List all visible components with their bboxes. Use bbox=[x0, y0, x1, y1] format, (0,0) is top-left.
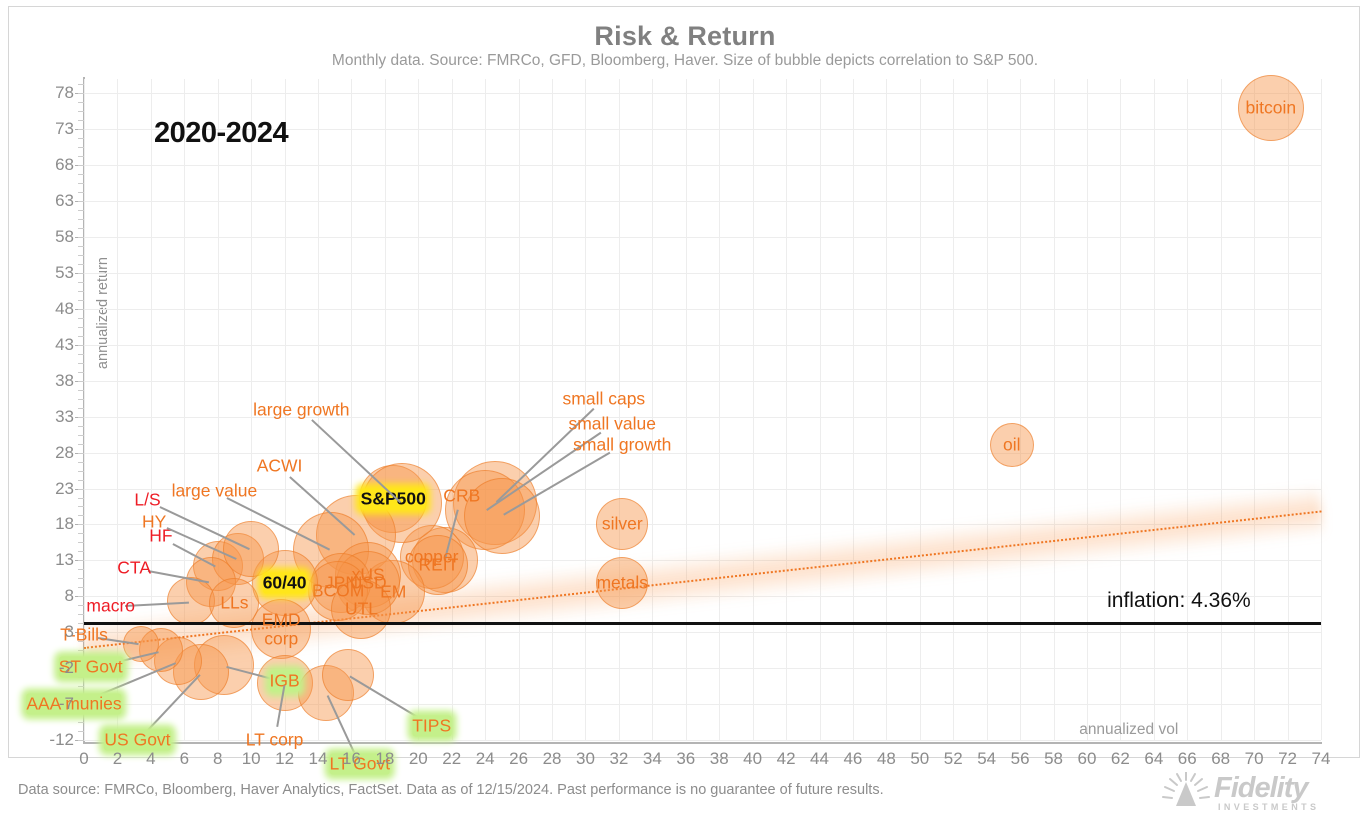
gridline-vertical bbox=[552, 79, 553, 740]
chart-frame: Risk & Return Monthly data. Source: FMRC… bbox=[8, 6, 1360, 758]
y-axis-tick-label: 8 bbox=[14, 586, 74, 606]
gridline-vertical bbox=[1254, 79, 1255, 740]
bubble-label-macro: macro bbox=[86, 595, 135, 616]
y-axis-minor-tick bbox=[78, 102, 84, 103]
x-axis-tick-label: 66 bbox=[1178, 749, 1197, 769]
y-axis-minor-tick bbox=[78, 408, 84, 409]
gridline-vertical bbox=[786, 79, 787, 740]
bubble-label-tips: TIPS bbox=[412, 715, 451, 736]
x-axis-tick-label: 24 bbox=[476, 749, 495, 769]
y-axis-minor-tick bbox=[78, 417, 84, 418]
bubble-label-bitcoin: bitcoin bbox=[1246, 97, 1297, 118]
chart-page: Risk & Return Monthly data. Source: FMRC… bbox=[0, 0, 1372, 817]
gridline-vertical bbox=[652, 79, 653, 740]
x-axis-tick-label: 26 bbox=[509, 749, 528, 769]
y-axis-tick-label: 3 bbox=[14, 622, 74, 642]
y-axis-tick-label: 28 bbox=[14, 443, 74, 463]
y-axis-minor-tick bbox=[78, 489, 84, 490]
y-axis-minor-tick bbox=[78, 93, 84, 94]
y-axis-minor-tick bbox=[78, 614, 84, 615]
y-axis-minor-tick bbox=[78, 498, 84, 499]
gridline-horizontal bbox=[84, 489, 1321, 490]
y-axis-minor-tick bbox=[78, 596, 84, 597]
gridline-vertical bbox=[619, 79, 620, 740]
page-title: Risk & Return bbox=[9, 21, 1361, 52]
y-axis-minor-tick bbox=[78, 129, 84, 130]
x-axis-tick-label: 0 bbox=[79, 749, 88, 769]
y-axis-tick-label: -2 bbox=[14, 658, 74, 678]
x-axis-tick-label: 62 bbox=[1111, 749, 1130, 769]
x-axis-tick-label: 30 bbox=[576, 749, 595, 769]
y-axis-minor-tick bbox=[78, 435, 84, 436]
plot-area: bitcoinoilsilvermetalssmall capssmall va… bbox=[84, 79, 1321, 740]
y-axis-minor-tick bbox=[78, 147, 84, 148]
gridline-vertical bbox=[1288, 79, 1289, 740]
bubble-label-large-value: large value bbox=[172, 480, 258, 501]
y-axis-minor-tick bbox=[78, 246, 84, 247]
y-axis-minor-tick bbox=[78, 354, 84, 355]
gridline-horizontal bbox=[84, 165, 1321, 166]
x-axis-tick-label: 14 bbox=[309, 749, 328, 769]
x-axis-tick-label: 4 bbox=[146, 749, 155, 769]
x-axis-tick-label: 22 bbox=[442, 749, 461, 769]
gridline-vertical bbox=[686, 79, 687, 740]
y-axis-tick-label: 43 bbox=[14, 335, 74, 355]
x-axis-tick-label: 48 bbox=[877, 749, 896, 769]
y-axis-minor-tick bbox=[78, 264, 84, 265]
y-axis-minor-tick bbox=[78, 201, 84, 202]
x-axis-tick-label: 74 bbox=[1312, 749, 1331, 769]
x-axis-tick-label: 8 bbox=[213, 749, 222, 769]
x-axis-tick-label: 52 bbox=[944, 749, 963, 769]
y-axis-minor-tick bbox=[78, 399, 84, 400]
y-axis-minor-tick bbox=[78, 740, 84, 741]
gridline-vertical bbox=[485, 79, 486, 740]
bubble-label-l-s: L/S bbox=[134, 490, 160, 511]
x-axis-tick-label: 70 bbox=[1245, 749, 1264, 769]
chart-subtitle: Monthly data. Source: FMRCo, GFD, Bloomb… bbox=[9, 52, 1361, 70]
bubble-label-s-p500: S&P500 bbox=[361, 489, 426, 510]
gridline-vertical bbox=[820, 79, 821, 740]
bubble-label-us-govt: US Govt bbox=[104, 730, 170, 751]
bubble-label-silver: silver bbox=[602, 514, 643, 535]
gridline-vertical bbox=[519, 79, 520, 740]
y-axis-minor-tick bbox=[78, 578, 84, 579]
bubble-label-lls: LLs bbox=[220, 593, 248, 614]
y-axis-minor-tick bbox=[78, 731, 84, 732]
x-axis-tick-label: 10 bbox=[242, 749, 261, 769]
bubble-label-metals: metals bbox=[596, 573, 648, 594]
gridline-vertical bbox=[1221, 79, 1222, 740]
x-axis-tick-label: 18 bbox=[375, 749, 394, 769]
y-axis-minor-tick bbox=[78, 381, 84, 382]
x-axis-tick-label: 38 bbox=[710, 749, 729, 769]
x-axis-tick-label: 68 bbox=[1211, 749, 1230, 769]
y-axis-minor-tick bbox=[78, 506, 84, 507]
bubble-label-60-40: 60/40 bbox=[263, 573, 307, 594]
bubble-tips[interactable] bbox=[322, 649, 374, 701]
y-axis-minor-tick bbox=[78, 650, 84, 651]
y-axis-minor-tick bbox=[78, 255, 84, 256]
x-axis-tick-label: 54 bbox=[977, 749, 996, 769]
inflation-annotation: inflation: 4.36% bbox=[1107, 589, 1251, 613]
bubble-label-igb: IGB bbox=[270, 671, 300, 692]
bubble-label-cta: CTA bbox=[117, 557, 151, 578]
bubble-label-acwi: ACWI bbox=[257, 456, 303, 477]
bubble-label-lt-corp: LT corp bbox=[246, 730, 304, 751]
x-axis-title: annualized vol bbox=[1079, 721, 1178, 739]
y-axis-minor-tick bbox=[78, 210, 84, 211]
bubble-label-oil: oil bbox=[1003, 435, 1021, 456]
gridline-vertical bbox=[1087, 79, 1088, 740]
x-axis-tick-label: 36 bbox=[676, 749, 695, 769]
x-axis-tick-label: 60 bbox=[1078, 749, 1097, 769]
y-axis-minor-tick bbox=[78, 183, 84, 184]
y-axis-tick-label: 13 bbox=[14, 550, 74, 570]
y-axis-tick-label: 53 bbox=[14, 263, 74, 283]
y-axis-tick-label: 38 bbox=[14, 371, 74, 391]
y-axis-minor-tick bbox=[78, 237, 84, 238]
x-axis-tick-label: 72 bbox=[1278, 749, 1297, 769]
y-axis-minor-tick bbox=[78, 120, 84, 121]
gridline-vertical bbox=[1154, 79, 1155, 740]
y-axis-minor-tick bbox=[78, 524, 84, 525]
y-axis-minor-tick bbox=[78, 84, 84, 85]
y-axis-minor-tick bbox=[78, 462, 84, 463]
x-axis-tick-label: 28 bbox=[543, 749, 562, 769]
gridline-vertical bbox=[853, 79, 854, 740]
x-axis-tick-label: 44 bbox=[810, 749, 829, 769]
gridline-vertical bbox=[452, 79, 453, 740]
y-axis-tick-label: 23 bbox=[14, 479, 74, 499]
logo-tagline: INVESTMENTS bbox=[1218, 802, 1319, 812]
y-axis-minor-tick bbox=[78, 551, 84, 552]
y-axis-minor-tick bbox=[78, 515, 84, 516]
y-axis-minor-tick bbox=[78, 219, 84, 220]
y-axis-minor-tick bbox=[78, 444, 84, 445]
x-axis-tick-label: 6 bbox=[180, 749, 189, 769]
y-axis-minor-tick bbox=[78, 327, 84, 328]
bubble-label-small-growth: small growth bbox=[573, 435, 671, 456]
leader-line bbox=[311, 419, 401, 503]
y-axis-minor-tick bbox=[78, 677, 84, 678]
x-axis-tick-label: 12 bbox=[275, 749, 294, 769]
bubble-label-hy: HY bbox=[142, 511, 166, 532]
y-axis-minor-tick bbox=[78, 192, 84, 193]
y-axis-minor-tick bbox=[78, 560, 84, 561]
y-axis-minor-tick bbox=[78, 111, 84, 112]
gridline-vertical bbox=[418, 79, 419, 740]
y-axis-minor-tick bbox=[78, 138, 84, 139]
bubble-label-reit: REIT bbox=[418, 554, 458, 575]
y-axis-tick-label: -12 bbox=[14, 730, 74, 750]
gridline-horizontal bbox=[84, 201, 1321, 202]
y-axis-tick-label: 48 bbox=[14, 299, 74, 319]
y-axis-minor-tick bbox=[78, 605, 84, 606]
x-axis-tick-label: 56 bbox=[1011, 749, 1030, 769]
x-axis-tick-label: 46 bbox=[843, 749, 862, 769]
gridline-vertical bbox=[585, 79, 586, 740]
y-axis-minor-tick bbox=[78, 273, 84, 274]
y-axis-minor-tick bbox=[78, 156, 84, 157]
gridline-horizontal bbox=[84, 237, 1321, 238]
y-axis-minor-tick bbox=[78, 533, 84, 534]
gridline-horizontal bbox=[84, 93, 1321, 94]
gridline-vertical bbox=[753, 79, 754, 740]
y-axis-tick-label: 63 bbox=[14, 191, 74, 211]
y-axis-minor-tick bbox=[78, 291, 84, 292]
gridline-vertical bbox=[1321, 79, 1322, 740]
fidelity-logo: Fidelity INVESTMENTS bbox=[1162, 772, 1362, 814]
y-axis-tick-label: 68 bbox=[14, 155, 74, 175]
y-axis-minor-tick bbox=[78, 480, 84, 481]
y-axis-minor-tick bbox=[78, 686, 84, 687]
logo-wordmark: Fidelity bbox=[1214, 772, 1308, 805]
y-axis-minor-tick bbox=[78, 309, 84, 310]
y-axis-minor-tick bbox=[78, 372, 84, 373]
gridline-horizontal bbox=[84, 381, 1321, 382]
gridline-horizontal bbox=[84, 273, 1321, 274]
y-axis-minor-tick bbox=[78, 363, 84, 364]
period-annotation: 2020-2024 bbox=[154, 117, 288, 150]
gridline-vertical bbox=[385, 79, 386, 740]
y-axis-minor-tick bbox=[78, 318, 84, 319]
y-axis-minor-tick bbox=[78, 165, 84, 166]
y-axis-tick-label: 73 bbox=[14, 119, 74, 139]
gridline-vertical bbox=[1020, 79, 1021, 740]
bubble-label-utl: UTL bbox=[345, 599, 378, 620]
y-axis-tick-label: 33 bbox=[14, 407, 74, 427]
bubble-label-emd-corp: EMDcorp bbox=[262, 611, 301, 648]
bubble-label-crb: CRB bbox=[443, 485, 480, 506]
y-axis-minor-tick bbox=[78, 282, 84, 283]
y-axis-minor-tick bbox=[78, 542, 84, 543]
y-axis-minor-tick bbox=[78, 722, 84, 723]
y-axis-minor-tick bbox=[78, 471, 84, 472]
fidelity-pyramid-icon bbox=[1162, 772, 1210, 812]
x-axis-tick-label: 42 bbox=[777, 749, 796, 769]
y-axis-tick-label: -7 bbox=[14, 694, 74, 714]
gridline-vertical bbox=[1120, 79, 1121, 740]
x-axis-tick-label: 20 bbox=[409, 749, 428, 769]
gridline-horizontal bbox=[84, 309, 1321, 310]
gridline-vertical bbox=[1054, 79, 1055, 740]
bubble-label-small-caps: small caps bbox=[563, 388, 646, 409]
gridline-vertical bbox=[920, 79, 921, 740]
footer-source: Data source: FMRCo, Bloomberg, Haver Ana… bbox=[18, 782, 884, 798]
x-axis-tick-label: 64 bbox=[1144, 749, 1163, 769]
x-axis-tick-label: 2 bbox=[113, 749, 122, 769]
x-axis-tick-label: 50 bbox=[910, 749, 929, 769]
gridline-vertical bbox=[953, 79, 954, 740]
x-axis-tick-label: 16 bbox=[342, 749, 361, 769]
y-axis-minor-tick bbox=[78, 390, 84, 391]
y-axis-minor-tick bbox=[78, 453, 84, 454]
gridline-vertical bbox=[1187, 79, 1188, 740]
y-axis-minor-tick bbox=[78, 345, 84, 346]
y-axis-minor-tick bbox=[78, 228, 84, 229]
gridline-vertical bbox=[886, 79, 887, 740]
y-axis-minor-tick bbox=[78, 174, 84, 175]
y-axis-tick-label: 18 bbox=[14, 514, 74, 534]
bubble-label-large-growth: large growth bbox=[253, 399, 349, 420]
y-axis-minor-tick bbox=[78, 426, 84, 427]
x-axis-tick-label: 32 bbox=[609, 749, 628, 769]
gridline-horizontal bbox=[84, 453, 1321, 454]
bubble-label-small-value: small value bbox=[568, 413, 656, 434]
y-axis-minor-tick bbox=[78, 569, 84, 570]
gridline-vertical bbox=[719, 79, 720, 740]
x-axis-tick-label: 34 bbox=[643, 749, 662, 769]
gridline-horizontal bbox=[84, 345, 1321, 346]
y-axis-minor-tick bbox=[78, 300, 84, 301]
gridline-vertical bbox=[987, 79, 988, 740]
y-axis-tick-label: 78 bbox=[14, 83, 74, 103]
y-axis-tick-label: 58 bbox=[14, 227, 74, 247]
x-axis-tick-label: 58 bbox=[1044, 749, 1063, 769]
y-axis-minor-tick bbox=[78, 336, 84, 337]
y-axis-minor-tick bbox=[78, 587, 84, 588]
x-axis-tick-label: 40 bbox=[743, 749, 762, 769]
